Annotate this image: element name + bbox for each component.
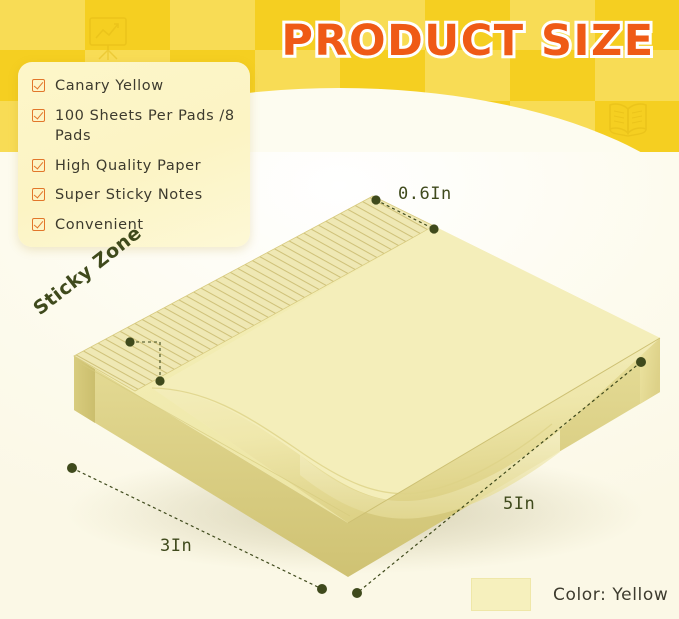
checkbox-checked-icon xyxy=(32,188,45,201)
checkbox-checked-icon xyxy=(32,218,45,231)
checkbox-checked-icon xyxy=(32,79,45,92)
chart-board-icon xyxy=(86,14,130,62)
color-legend-label: Color: Yellow xyxy=(553,585,668,605)
feature-label: Canary Yellow xyxy=(55,76,164,97)
feature-item: 100 Sheets Per Pads /8 Pads xyxy=(32,106,238,147)
feature-list-panel: Canary Yellow 100 Sheets Per Pads /8 Pad… xyxy=(18,62,250,247)
feature-label: Super Sticky Notes xyxy=(55,185,203,206)
dimension-label-width: 3In xyxy=(160,536,192,556)
color-legend: Color: Yellow xyxy=(471,578,668,611)
checkbox-checked-icon xyxy=(32,109,45,122)
feature-item: Canary Yellow xyxy=(32,76,238,97)
feature-item: High Quality Paper xyxy=(32,156,238,177)
feature-label: 100 Sheets Per Pads /8 Pads xyxy=(55,106,238,147)
dimension-label-thickness: 0.6In xyxy=(398,184,452,204)
infographic-canvas: PRODUCT SIZE Canary Yellow 100 Sheets Pe… xyxy=(0,0,679,619)
checkbox-checked-icon xyxy=(32,159,45,172)
feature-label: High Quality Paper xyxy=(55,156,201,177)
open-book-icon xyxy=(606,98,650,140)
feature-item: Super Sticky Notes xyxy=(32,185,238,206)
color-swatch xyxy=(471,578,531,611)
page-title: PRODUCT SIZE xyxy=(268,16,668,66)
dimension-label-length: 5In xyxy=(503,494,535,514)
